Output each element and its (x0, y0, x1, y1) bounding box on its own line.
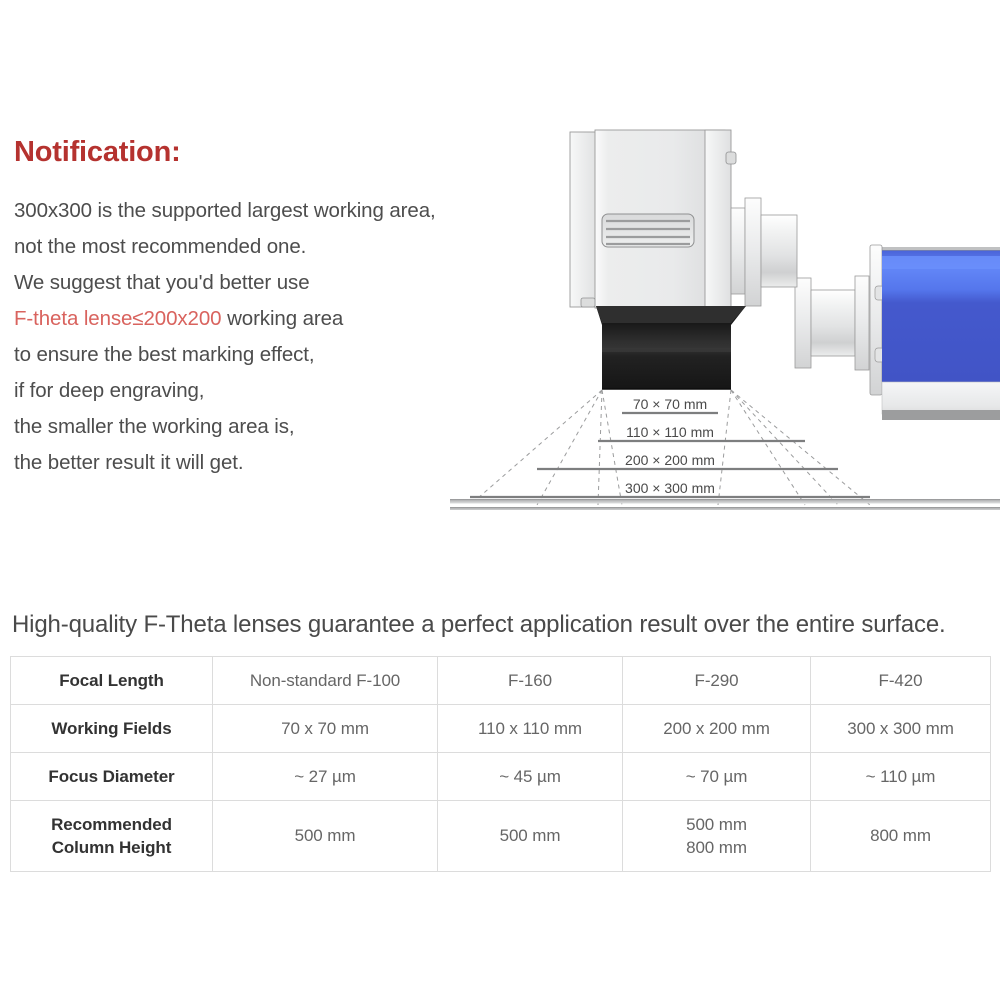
row-label-column-height-line2: Column Height (11, 836, 212, 859)
beam-expander-tube (811, 290, 855, 356)
field-label-200: 200 × 200 mm (625, 452, 715, 468)
laser-body-blue (882, 250, 1000, 382)
cell-focus-diameter-f100: ~ 27 µm (213, 753, 438, 801)
spec-table: Focal Length Non-standard F-100 F-160 F-… (10, 656, 991, 872)
scanner-output-flange (731, 208, 745, 294)
spec-caption: High-quality F-Theta lenses guarantee a … (12, 608, 962, 642)
scanner-head (570, 130, 797, 308)
cell-column-height-f160: 500 mm (438, 801, 623, 872)
field-label-110: 110 × 110 mm (626, 424, 714, 440)
laser-lower-panel (882, 382, 1000, 414)
cone-70-right (718, 390, 731, 505)
beam-expander-flange-left (795, 278, 811, 368)
row-label-column-height-line1: Recommended (11, 813, 212, 836)
cell-working-fields-f100: 70 x 70 mm (213, 705, 438, 753)
laser-top-edge (882, 247, 1000, 251)
laser-highlight-band (882, 256, 1000, 269)
adjustment-screw-icon (726, 152, 736, 164)
mounting-foot-icon (581, 298, 595, 307)
cone-300-left (470, 390, 602, 505)
laser-marking-illustration: 70 × 70 mm 110 × 110 mm 200 × 200 mm 300… (450, 110, 1000, 510)
cell-column-height-f100: 500 mm (213, 801, 438, 872)
cone-110-right (731, 390, 805, 505)
beam-expander-assembly (795, 276, 869, 370)
work-surface-line-1 (450, 499, 1000, 504)
field-label-70: 70 × 70 mm (633, 396, 707, 412)
scanner-output-tube (761, 215, 797, 287)
work-surface-line-2 (450, 507, 1000, 510)
cell-focal-length-f160: F-160 (438, 657, 623, 705)
cell-working-fields-f160: 110 x 110 mm (438, 705, 623, 753)
cone-200-right (731, 390, 838, 505)
cell-column-height-f290-line1: 500 mm (623, 813, 810, 836)
lens-barrel-top-bevel (596, 306, 746, 323)
cone-110-left (598, 390, 602, 505)
row-label-working-fields: Working Fields (11, 705, 213, 753)
scanner-output-collar (745, 198, 761, 306)
notification-accent-text: F-theta lense≤200x200 (14, 307, 221, 330)
spec-section: High-quality F-Theta lenses guarantee a … (10, 608, 990, 872)
cell-focus-diameter-f160: ~ 45 µm (438, 753, 623, 801)
vent-housing (602, 214, 694, 247)
table-row-focal-length: Focal Length Non-standard F-100 F-160 F-… (11, 657, 991, 705)
cell-focal-length-f420: F-420 (811, 657, 991, 705)
notification-line-4-tail: working area (221, 307, 343, 330)
cell-focal-length-f100: Non-standard F-100 (213, 657, 438, 705)
f-theta-lens-barrel (596, 306, 746, 389)
field-label-300: 300 × 300 mm (625, 480, 715, 496)
laser-mount-plate (870, 245, 882, 395)
cell-focal-length-f290: F-290 (623, 657, 811, 705)
cell-working-fields-f290: 200 x 200 mm (623, 705, 811, 753)
laser-base-strip (882, 410, 1000, 420)
beam-expander-flange-right (855, 276, 869, 370)
work-surface-lines (450, 499, 1000, 510)
scanner-side-panel-left (570, 132, 598, 307)
cone-300-right (731, 390, 870, 505)
table-row-focus-diameter: Focus Diameter ~ 27 µm ~ 45 µm ~ 70 µm ~… (11, 753, 991, 801)
cell-column-height-f420: 800 mm (811, 801, 991, 872)
table-row-column-height: Recommended Column Height 500 mm 500 mm … (11, 801, 991, 872)
cone-200-left (537, 390, 602, 505)
row-label-focal-length: Focal Length (11, 657, 213, 705)
field-labels: 70 × 70 mm 110 × 110 mm 200 × 200 mm 300… (625, 396, 715, 496)
cell-focus-diameter-f290: ~ 70 µm (623, 753, 811, 801)
cell-column-height-f290-line2: 800 mm (623, 836, 810, 859)
laser-source-module (870, 245, 1000, 420)
cell-column-height-f290: 500 mm 800 mm (623, 801, 811, 872)
row-label-column-height: Recommended Column Height (11, 801, 213, 872)
table-row-working-fields: Working Fields 70 x 70 mm 110 x 110 mm 2… (11, 705, 991, 753)
cell-focus-diameter-f420: ~ 110 µm (811, 753, 991, 801)
cell-working-fields-f420: 300 x 300 mm (811, 705, 991, 753)
cone-70-left (602, 390, 622, 505)
row-label-focus-diameter: Focus Diameter (11, 753, 213, 801)
scanner-vent-grille (602, 214, 694, 247)
lens-barrel-highlight (602, 348, 731, 352)
